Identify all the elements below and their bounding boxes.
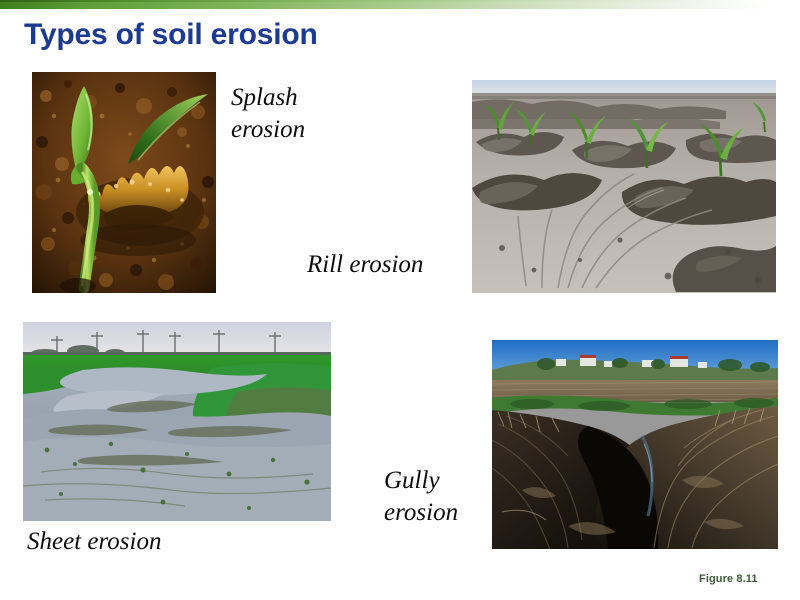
- photo-gully-erosion: [492, 340, 778, 549]
- photo-splash-erosion: [32, 72, 216, 293]
- gully-erosion-image: [492, 340, 778, 549]
- slide-canvas: Types of soil erosion: [0, 0, 800, 600]
- accent-bar-edge: [0, 0, 800, 2]
- caption-sheet-erosion: Sheet erosion: [27, 526, 161, 558]
- sheet-erosion-image: [23, 322, 331, 521]
- figure-credit: Figure 8.11: [699, 573, 758, 585]
- photo-rill-erosion: [472, 80, 776, 293]
- splash-erosion-image: [32, 72, 216, 293]
- caption-gully-erosion: Gully erosion: [384, 465, 458, 529]
- rill-erosion-image: [472, 80, 776, 293]
- caption-rill-erosion: Rill erosion: [307, 249, 423, 281]
- page-title: Types of soil erosion: [24, 18, 318, 52]
- photo-sheet-erosion: [23, 322, 331, 521]
- caption-splash-erosion: Splash erosion: [231, 82, 305, 146]
